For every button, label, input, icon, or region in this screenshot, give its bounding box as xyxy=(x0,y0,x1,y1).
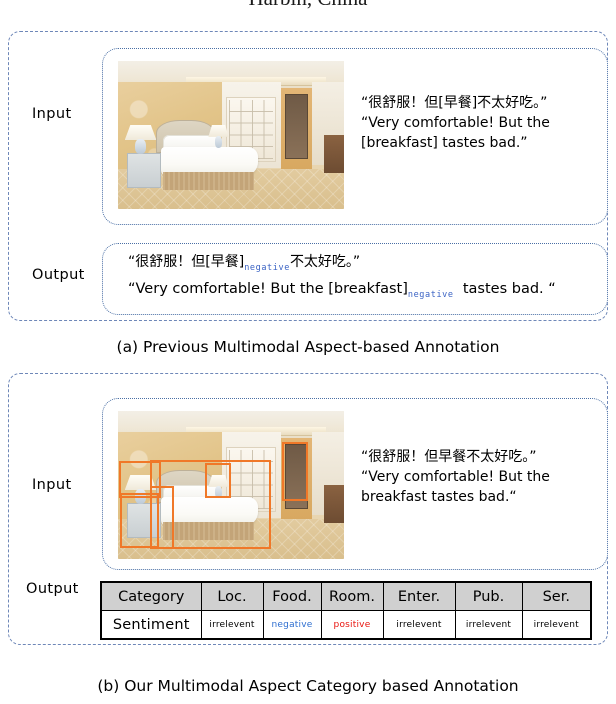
panel-b-output-label: Output xyxy=(26,581,79,597)
panel-a-output-text: “很舒服！但[早餐]negative不太好吃。” “Very comfortab… xyxy=(128,249,556,303)
page-title: Harbin, China xyxy=(0,0,616,11)
panel-a-output-chinese-prefix: “很舒服！但[早餐] xyxy=(128,254,244,270)
panel-b-input-label: Input xyxy=(32,477,72,493)
col-location: Loc. xyxy=(201,582,263,611)
row-header-sentiment: Sentiment xyxy=(101,611,201,640)
caption-b: (b) Our Multimodal Aspect Category based… xyxy=(0,677,616,695)
panel-a-output-english-prefix: “Very comfortable! But the [breakfast] xyxy=(128,281,408,297)
sentiment-entertain: irrelevent xyxy=(383,611,455,640)
panel-a-output-label: Output xyxy=(32,267,85,283)
sentiment-public: irrelevent xyxy=(455,611,522,640)
panel-a-output-chinese: “很舒服！但[早餐]negative不太好吃。” xyxy=(128,249,556,276)
panel-a-output-english-suffix: tastes bad. “ xyxy=(463,281,556,297)
nightstand-box xyxy=(120,493,158,548)
photo-lampshade xyxy=(208,125,228,137)
lamp-left-box xyxy=(119,461,161,498)
panel-b-review-english-line1: “Very comfortable! But the xyxy=(361,468,601,488)
panel-b-review-text: “很舒服！但早餐不太好吃。” “Very comfortable! But th… xyxy=(361,448,601,508)
col-room: Room. xyxy=(321,582,383,611)
photo-lampshade xyxy=(125,125,157,140)
panel-a-output-english-tag: negative xyxy=(408,290,454,300)
photo-lampbase xyxy=(215,136,222,148)
photo-lamp-left xyxy=(125,125,157,155)
sentiment-location: irrelevent xyxy=(201,611,263,640)
photo-entry-door xyxy=(285,94,308,159)
panel-a-review-english-line2: [breakfast] tastes bad.” xyxy=(361,134,601,154)
bed-inner-box xyxy=(150,486,175,548)
panel-a-input-label: Input xyxy=(32,106,72,122)
sentiment-service: irrelevent xyxy=(522,611,591,640)
panel-b-hotel-photo xyxy=(118,411,344,559)
photo-bedskirt xyxy=(163,172,253,190)
col-category: Category xyxy=(101,582,201,611)
panel-a-hotel-photo xyxy=(118,61,344,209)
sentiment-food: negative xyxy=(263,611,321,640)
panel-a-output-english: “Very comfortable! But the [breakfast]ne… xyxy=(128,276,556,304)
table-header-row: Category Loc. Food. Room. Enter. Pub. Se… xyxy=(101,582,591,611)
bed-box xyxy=(150,460,271,549)
col-public: Pub. xyxy=(455,582,522,611)
panel-a-review-text: “很舒服！但[早餐]不太好吃。” “Very comfortable! But … xyxy=(361,94,601,154)
col-entertain: Enter. xyxy=(383,582,455,611)
col-service: Ser. xyxy=(522,582,591,611)
table-row: Sentiment irrelevent negative positive i… xyxy=(101,611,591,640)
panel-a-output-chinese-suffix: 不太好吃。” xyxy=(290,254,360,270)
lamp-right-box xyxy=(205,463,231,498)
photo-lamp-right xyxy=(208,125,228,149)
panel-a-review-chinese: “很舒服！但[早餐]不太好吃。” xyxy=(361,94,601,114)
sentiment-room: positive xyxy=(321,611,383,640)
sentiment-table: Category Loc. Food. Room. Enter. Pub. Se… xyxy=(100,581,592,640)
col-food: Food. xyxy=(263,582,321,611)
photo-lampbase xyxy=(135,139,146,154)
panel-a-output-chinese-tag: negative xyxy=(244,263,290,273)
panel-a-review-english-line1: “Very comfortable! But the xyxy=(361,114,601,134)
panel-b-review-chinese: “很舒服！但早餐不太好吃。” xyxy=(361,448,601,468)
photo-dresser xyxy=(324,135,344,173)
photo-nightstand xyxy=(127,153,161,189)
bounding-box-layer xyxy=(118,411,344,559)
panel-b-review-english-line2: breakfast tastes bad.“ xyxy=(361,488,601,508)
door-box xyxy=(282,442,308,501)
caption-a: (a) Previous Multimodal Aspect-based Ann… xyxy=(0,338,616,356)
